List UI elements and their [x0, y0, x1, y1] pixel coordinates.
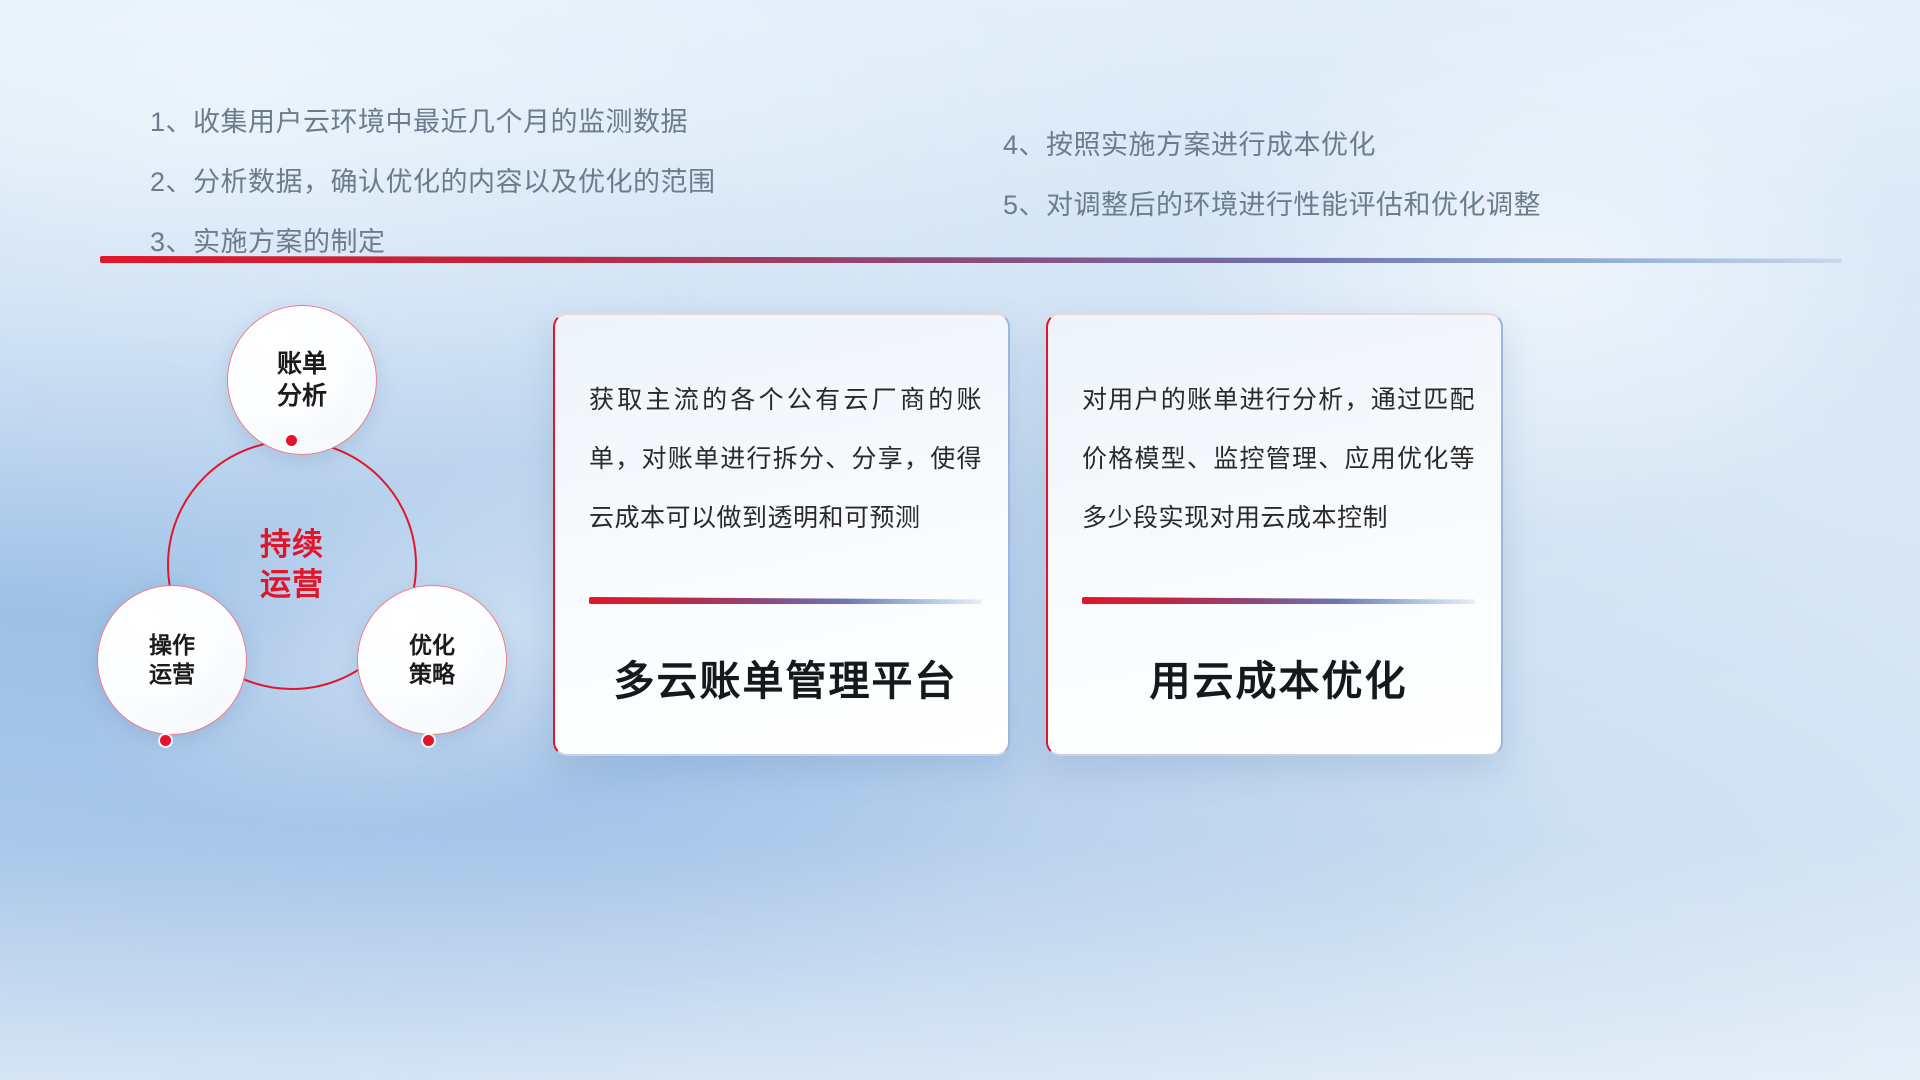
card-2-body: 对用户的账单进行分析，通过匹配价格模型、监控管理、应用优化等多少段实现对用云成本… — [1082, 371, 1475, 548]
node-policy-line2: 策略 — [409, 661, 455, 687]
step-item-3: 3、实施方案的制定 — [150, 220, 716, 259]
step-item-4: 4、按照实施方案进行成本优化 — [1003, 123, 1541, 162]
core-label-line1: 持续 — [260, 527, 324, 562]
step-item-1: 1、收集用户云环境中最近几个月的监测数据 — [150, 100, 716, 139]
node-billing-line2: 分析 — [277, 382, 327, 410]
core-label-line2: 运营 — [260, 567, 324, 602]
node-circle-optimization-policy[interactable]: 优化 策略 — [357, 585, 507, 735]
connector-dot-top — [286, 435, 297, 446]
info-card-cloud-cost-optimization[interactable]: 对用户的账单进行分析，通过匹配价格模型、监控管理、应用优化等多少段实现对用云成本… — [1046, 313, 1503, 756]
info-card-multicloud-billing[interactable]: 获取主流的各个公有云厂商的账单，对账单进行拆分、分享，使得云成本可以做到透明和可… — [553, 313, 1010, 756]
steps-list-left: 1、收集用户云环境中最近几个月的监测数据 2、分析数据，确认优化的内容以及优化的… — [150, 100, 716, 280]
node-circle-billing-analysis[interactable]: 账单 分析 — [227, 305, 377, 455]
connector-dot-left — [160, 735, 171, 746]
continuous-operation-diagram: 持续 运营 账单 分析 操作 运营 优化 策略 — [85, 295, 555, 775]
connector-dot-right — [423, 735, 434, 746]
node-circle-operations[interactable]: 操作 运营 — [97, 585, 247, 735]
step-item-2: 2、分析数据，确认优化的内容以及优化的范围 — [150, 160, 716, 199]
card-2-divider — [1082, 597, 1475, 604]
card-1-title: 多云账单管理平台 — [589, 647, 982, 707]
card-2-title: 用云成本优化 — [1082, 647, 1475, 707]
step-item-5: 5、对调整后的环境进行性能评估和优化调整 — [1003, 183, 1541, 222]
node-ops-label: 操作 运营 — [149, 631, 195, 690]
node-ops-line2: 运营 — [149, 661, 195, 687]
node-policy-line1: 优化 — [409, 632, 455, 658]
node-billing-line1: 账单 — [277, 350, 327, 378]
steps-list-right: 4、按照实施方案进行成本优化 5、对调整后的环境进行性能评估和优化调整 — [1003, 123, 1541, 243]
node-ops-line1: 操作 — [149, 632, 195, 658]
node-policy-label: 优化 策略 — [409, 631, 455, 690]
card-1-divider — [589, 597, 982, 604]
card-1-body: 获取主流的各个公有云厂商的账单，对账单进行拆分、分享，使得云成本可以做到透明和可… — [589, 371, 982, 548]
node-billing-label: 账单 分析 — [277, 348, 327, 412]
core-circle-label: 持续 运营 — [260, 525, 324, 606]
